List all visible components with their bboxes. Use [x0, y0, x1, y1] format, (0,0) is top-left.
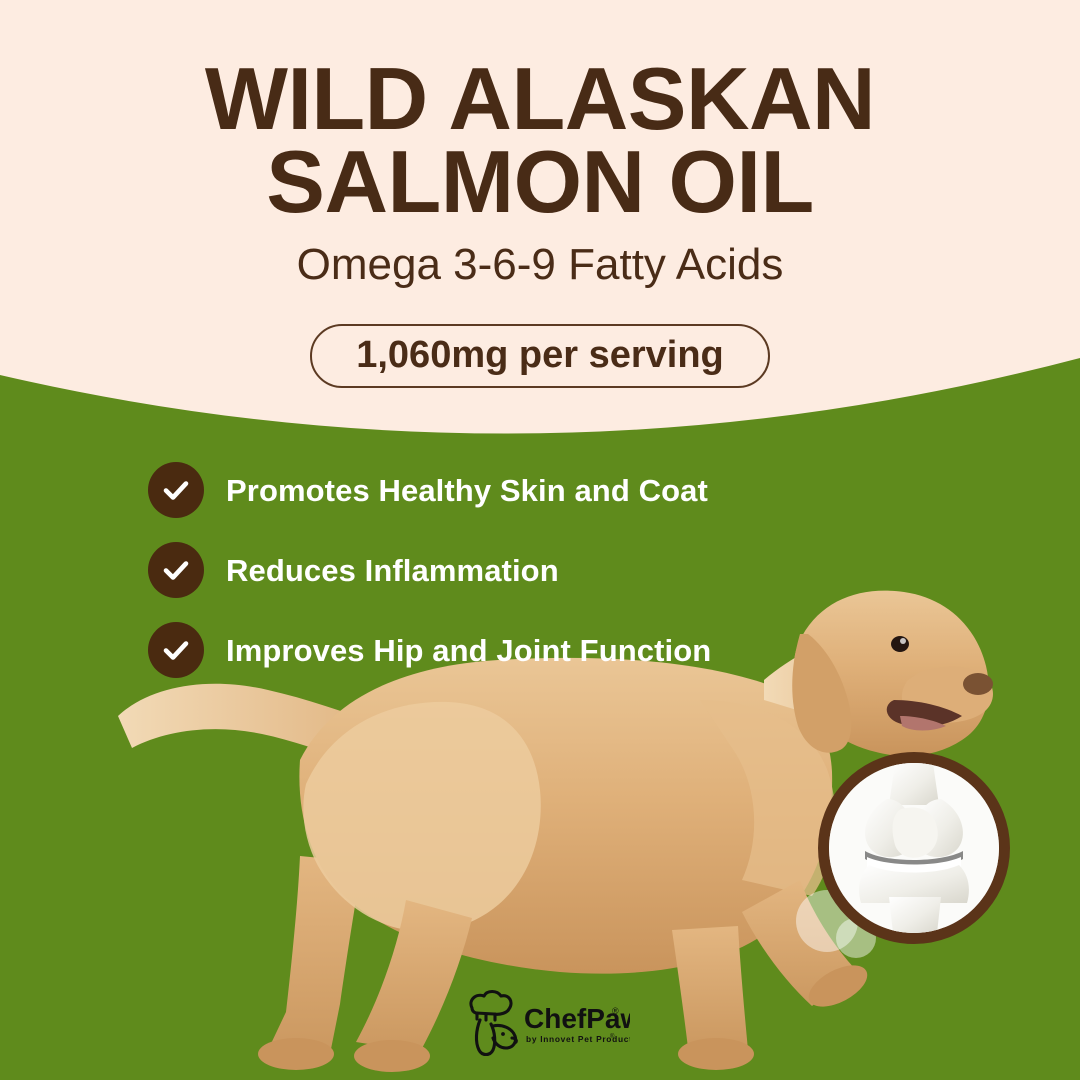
benefit-label: Improves Hip and Joint Function: [226, 635, 711, 666]
brand-logo: ChefPaw ® by Innovet Pet Products ®: [460, 986, 630, 1058]
logo-registered-mark: ®: [612, 1006, 619, 1016]
benefits-list: Promotes Healthy Skin and Coat Reduces I…: [148, 462, 888, 702]
subtitle: Omega 3-6-9 Fatty Acids: [0, 223, 1080, 289]
list-item: Reduces Inflammation: [148, 542, 888, 598]
benefit-label: Reduces Inflammation: [226, 555, 559, 586]
product-marketing-card: WILD ALASKAN SALMON OIL Omega 3-6-9 Fatt…: [0, 0, 1080, 1080]
check-icon: [148, 542, 204, 598]
title-line-2: SALMON OIL: [0, 141, 1080, 224]
knee-joint-inset: [818, 752, 1010, 944]
title-line-1: WILD ALASKAN: [0, 58, 1080, 141]
logo-tagline-mark: ®: [610, 1033, 615, 1040]
dosage-badge-wrap: 1,060mg per serving: [0, 324, 1080, 388]
dosage-badge: 1,060mg per serving: [310, 324, 770, 388]
list-item: Improves Hip and Joint Function: [148, 622, 888, 678]
page-title: WILD ALASKAN SALMON OIL: [0, 0, 1080, 223]
check-icon: [148, 622, 204, 678]
chef-hat-dog-icon: [471, 992, 516, 1055]
header-block: WILD ALASKAN SALMON OIL Omega 3-6-9 Fatt…: [0, 0, 1080, 290]
list-item: Promotes Healthy Skin and Coat: [148, 462, 888, 518]
check-icon: [148, 462, 204, 518]
benefit-label: Promotes Healthy Skin and Coat: [226, 475, 708, 506]
